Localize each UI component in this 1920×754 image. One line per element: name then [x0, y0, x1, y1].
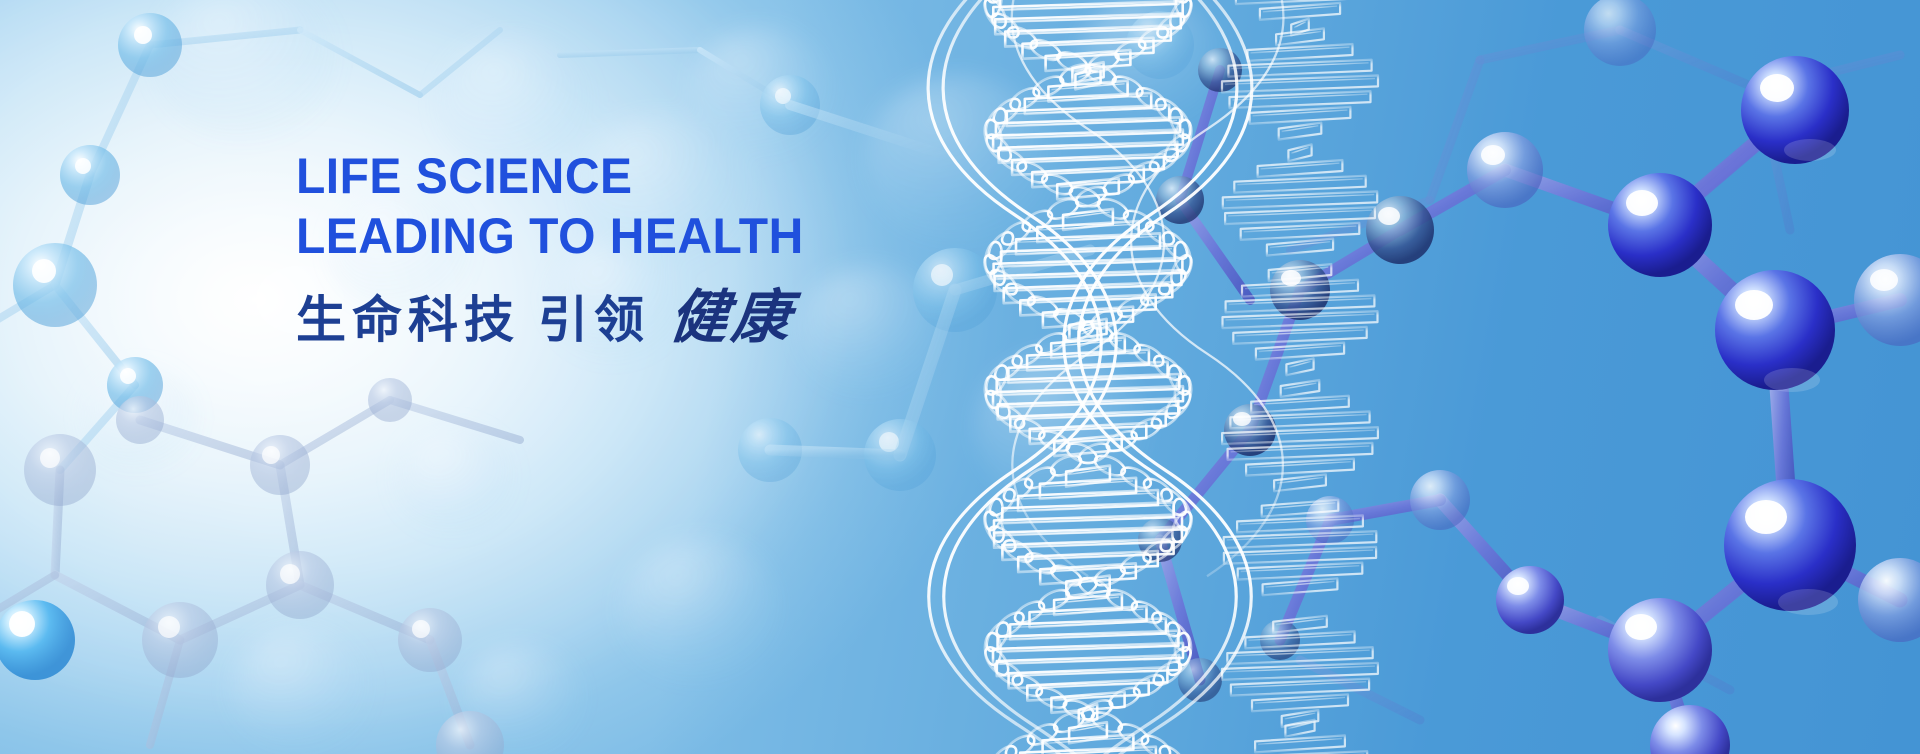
- helix-nucleotide-bead: [987, 742, 1021, 754]
- helix-rung: [1236, 0, 1364, 4]
- headline-chinese-line: 生命科技 引领 健康: [296, 286, 1056, 351]
- headline-block: LIFE SCIENCE LEADING TO HEALTH 生命科技 引领 健…: [296, 146, 1056, 351]
- headline-english-line-2: LEADING TO HEALTH: [296, 206, 1026, 266]
- dna-double-helix-wireframe: [0, 0, 1920, 754]
- helix-nucleotide-bead: [1155, 742, 1189, 754]
- headline-chinese-part-3-brush: 健康: [667, 286, 798, 348]
- headline-chinese-part-2: 引领: [538, 289, 650, 351]
- life-science-banner: LIFE SCIENCE LEADING TO HEALTH 生命科技 引领 健…: [0, 0, 1920, 754]
- headline-english-line-1: LIFE SCIENCE: [296, 146, 1026, 206]
- headline-chinese-part-1: 生命科技: [296, 289, 520, 351]
